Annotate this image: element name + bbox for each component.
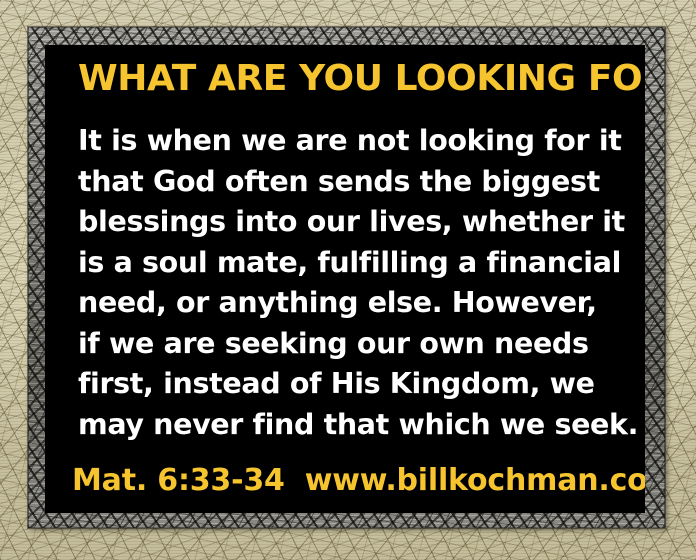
panel-content: WHAT ARE YOU LOOKING FOR? It is when we …: [45, 45, 645, 513]
body-line: if we are seeking our own needs: [78, 324, 631, 365]
body-line: may never find that which we seek.: [78, 405, 631, 446]
footer-citation: Mat. 6:33-34www.billkochman.com: [72, 464, 631, 498]
scripture-poster: WHAT ARE YOU LOOKING FOR? It is when we …: [0, 0, 696, 560]
body-line: is a soul mate, fulfilling a financial: [78, 243, 631, 284]
page-title: WHAT ARE YOU LOOKING FOR?: [78, 59, 631, 99]
scripture-reference: Mat. 6:33-34: [72, 463, 285, 498]
black-content-panel: WHAT ARE YOU LOOKING FOR? It is when we …: [45, 45, 645, 513]
body-line: need, or anything else. However,: [78, 283, 631, 324]
body-line: blessings into our lives, whether it: [78, 202, 631, 243]
body-paragraph: It is when we are not looking for it tha…: [78, 121, 631, 445]
body-line: It is when we are not looking for it: [78, 121, 631, 162]
website-url[interactable]: www.billkochman.com: [305, 463, 645, 498]
body-line: that God often sends the biggest: [78, 162, 631, 203]
body-line: first, instead of His Kingdom, we: [78, 364, 631, 405]
